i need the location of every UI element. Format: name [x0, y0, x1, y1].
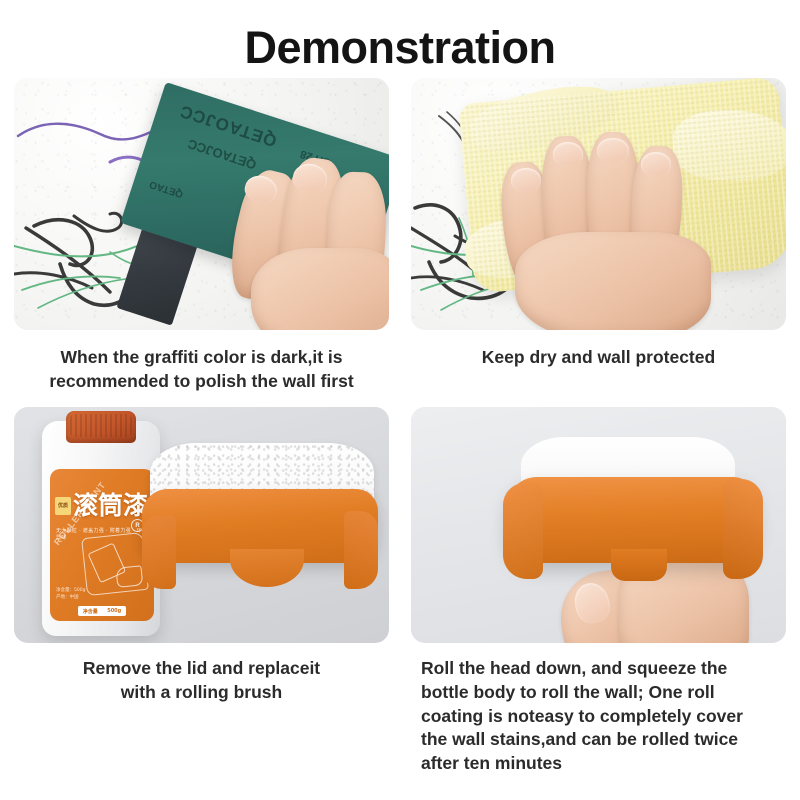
bottle-cap — [66, 411, 136, 443]
panel-replace-lid-caption: Remove the lid and replaceit with a roll… — [14, 643, 389, 704]
roller-neck — [611, 549, 667, 581]
roller-brush-head — [507, 437, 757, 597]
roller-arm-right — [723, 479, 763, 579]
panel-replace-lid: 优质 滚筒漆 无大颗粒 · 遮盖力强 · 附着力强 · 环保无异味 ROLLER… — [14, 407, 389, 775]
demonstration-grid: QETAOJCC QETAOJCC SH 28 SH 28 QETAO When… — [0, 78, 800, 775]
hand — [497, 114, 747, 324]
panel-replace-lid-photo: 优质 滚筒漆 无大颗粒 · 遮盖力强 · 附着力强 · 环保无异味 ROLLER… — [14, 407, 389, 643]
roller-brush-head — [142, 437, 378, 617]
label-badge: 优质 — [55, 497, 71, 515]
panel-keep-dry-caption: Keep dry and wall protected — [411, 330, 786, 370]
panel-polish-wall-caption: When the graffiti color is dark,it is re… — [14, 330, 389, 393]
panel-roll-wall-caption: Roll the head down, and squeeze the bott… — [411, 643, 786, 775]
bottle-label: 优质 滚筒漆 无大颗粒 · 遮盖力强 · 附着力强 · 环保无异味 ROLLER… — [50, 469, 154, 621]
roller-arm-right — [344, 511, 378, 589]
roller-arm-left — [142, 515, 176, 589]
label-illustration — [81, 532, 149, 596]
label-weight-value: 500g — [107, 608, 121, 614]
panel-polish-wall-photo: QETAOJCC QETAOJCC SH 28 SH 28 QETAO — [14, 78, 389, 330]
panel-keep-dry-photo — [411, 78, 786, 330]
page-title: Demonstration — [0, 0, 800, 78]
roller-arm-left — [503, 483, 543, 579]
roller-hub — [230, 549, 304, 587]
hand — [211, 156, 389, 330]
panel-roll-wall: Roll the head down, and squeeze the bott… — [411, 407, 786, 775]
label-weight: 净含量 500g — [78, 606, 126, 616]
label-footer: 净含量：500g 产地：中国 — [56, 588, 85, 602]
panel-keep-dry: Keep dry and wall protected — [411, 78, 786, 393]
panel-roll-wall-photo — [411, 407, 786, 643]
demonstration-page: Demonstration — [0, 0, 800, 800]
label-weight-caption: 净含量 — [83, 608, 98, 615]
panel-polish-wall: QETAOJCC QETAOJCC SH 28 SH 28 QETAO When… — [14, 78, 389, 393]
